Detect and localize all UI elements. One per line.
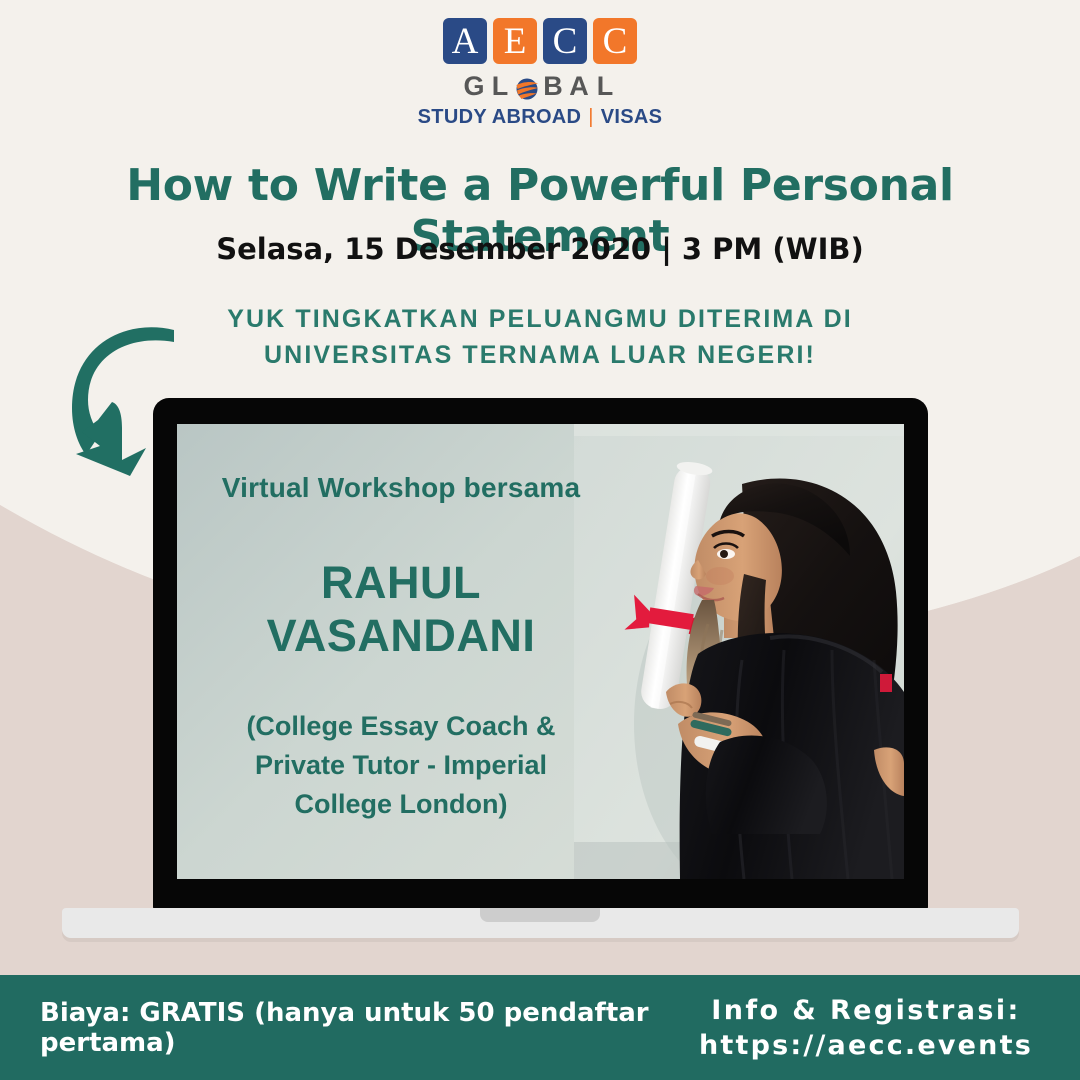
logo-square-c2: C bbox=[593, 18, 637, 64]
logo-global-l2: L bbox=[593, 71, 618, 102]
globe-swoosh-icon bbox=[514, 76, 540, 102]
logo-square-a: A bbox=[443, 18, 487, 64]
price-text: Biaya: GRATIS (hanya untuk 50 pendaftar … bbox=[40, 975, 680, 1080]
speaker-name: RAHUL VASANDANI bbox=[191, 556, 611, 662]
speaker-role-line-3: College London) bbox=[191, 785, 611, 824]
registration-label: Info & Registrasi: bbox=[711, 995, 1020, 1026]
speaker-last-name: VASANDANI bbox=[191, 609, 611, 662]
registration-info: Info & Registrasi: https://aecc.events bbox=[696, 975, 1036, 1080]
speaker-role-line-1: (College Essay Coach & bbox=[191, 707, 611, 746]
logo-tagline-divider: | bbox=[588, 106, 594, 129]
speaker-first-name: RAHUL bbox=[191, 556, 611, 609]
logo-square-e: E bbox=[493, 18, 537, 64]
footer-bar: Biaya: GRATIS (hanya untuk 50 pendaftar … bbox=[0, 975, 1080, 1080]
speaker-role-line-2: Private Tutor - Imperial bbox=[191, 746, 611, 785]
laptop-device: Virtual Workshop bersama RAHUL VASANDANI… bbox=[153, 398, 928, 910]
logo-tagline-study-abroad: STUDY ABROAD bbox=[418, 106, 582, 129]
logo-global-l: L bbox=[488, 71, 513, 102]
screen-text-block: Virtual Workshop bersama RAHUL VASANDANI… bbox=[191, 472, 611, 825]
logo-tagline: STUDY ABROAD | VISAS bbox=[418, 106, 663, 129]
laptop-base-notch bbox=[480, 908, 600, 922]
aecc-global-logo: A E C C G L B A L STUDY ABROAD | VIS bbox=[0, 18, 1080, 129]
logo-square-c1: C bbox=[543, 18, 587, 64]
logo-tagline-visas: VISAS bbox=[601, 106, 663, 129]
laptop-screen: Virtual Workshop bersama RAHUL VASANDANI… bbox=[177, 424, 904, 879]
graduate-holding-diploma-photo bbox=[574, 424, 904, 879]
poster-canvas: A E C C G L B A L STUDY ABROAD | VIS bbox=[0, 0, 1080, 1080]
screen-eyebrow: Virtual Workshop bersama bbox=[191, 472, 611, 504]
speaker-role: (College Essay Coach & Private Tutor - I… bbox=[191, 707, 611, 824]
event-datetime: Selasa, 15 Desember 2020 | 3 PM (WIB) bbox=[0, 232, 1080, 266]
logo-letter-row: A E C C bbox=[443, 18, 637, 64]
logo-global-g: G bbox=[462, 71, 487, 102]
logo-global-word: G L B A L bbox=[462, 71, 618, 102]
logo-global-b: B bbox=[541, 71, 566, 102]
registration-url[interactable]: https://aecc.events bbox=[699, 1030, 1033, 1061]
logo-global-a: A bbox=[567, 71, 592, 102]
